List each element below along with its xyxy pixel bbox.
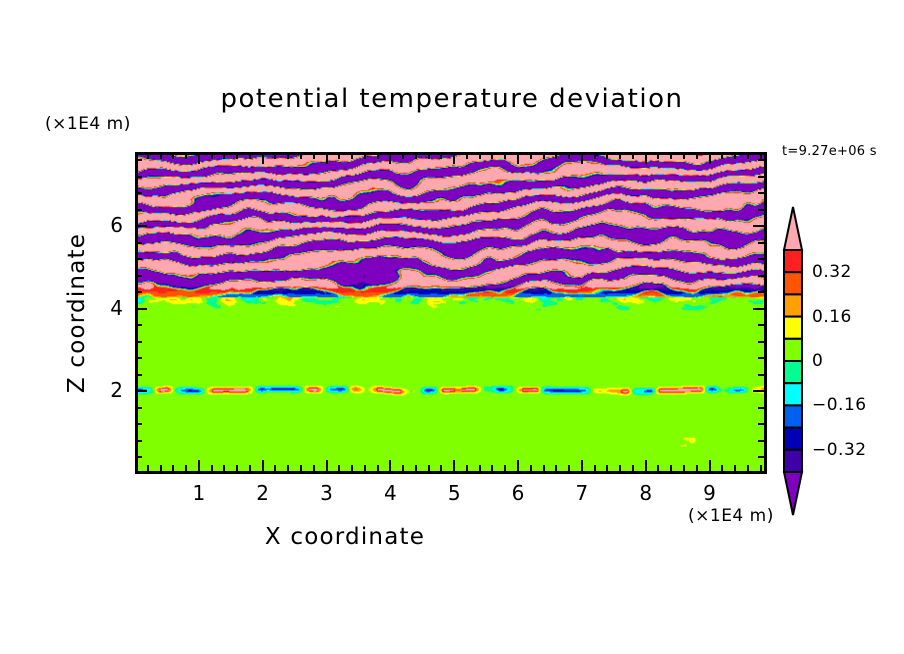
x-tick-major-top xyxy=(453,153,455,164)
x-tick-minor xyxy=(236,465,238,471)
y-tick-minor xyxy=(136,440,142,442)
x-tick-major-top xyxy=(326,153,328,164)
x-tick-minor xyxy=(364,465,366,471)
colorbar-over-cap xyxy=(784,207,802,250)
y-tick-minor-right xyxy=(758,440,764,442)
x-tick-label: 9 xyxy=(690,481,730,505)
x-tick-minor-top xyxy=(185,153,187,159)
x-tick-minor-top xyxy=(479,153,481,159)
x-tick-label: 1 xyxy=(179,481,219,505)
colorbar-tick-label: −0.16 xyxy=(812,395,867,415)
x-tick-major-top xyxy=(389,153,391,164)
y-tick-minor xyxy=(136,407,142,409)
y-tick-label: 4 xyxy=(83,296,123,320)
x-tick-label: 7 xyxy=(562,481,602,505)
y-tick-label: 2 xyxy=(83,378,123,402)
x-tick-minor-top xyxy=(543,153,545,159)
colorbar xyxy=(782,206,804,516)
x-tick-minor-top xyxy=(721,153,723,159)
y-tick-major xyxy=(136,308,147,310)
x-tick-minor xyxy=(351,465,353,471)
x-tick-minor-top xyxy=(428,153,430,159)
y-tick-minor xyxy=(136,258,142,260)
x-tick-minor xyxy=(568,465,570,471)
x-tick-label: 4 xyxy=(370,481,410,505)
y-tick-major xyxy=(136,225,147,227)
x-tick-major xyxy=(326,460,328,471)
x-tick-minor xyxy=(619,465,621,471)
x-tick-minor xyxy=(479,465,481,471)
y-tick-minor xyxy=(136,456,142,458)
x-tick-major xyxy=(262,460,264,471)
y-tick-minor xyxy=(136,176,142,178)
x-tick-minor-top xyxy=(619,153,621,159)
colorbar-band xyxy=(784,428,802,450)
x-tick-minor xyxy=(211,465,213,471)
colorbar-band xyxy=(784,317,802,339)
x-tick-major xyxy=(645,460,647,471)
x-tick-minor-top xyxy=(249,153,251,159)
x-tick-minor xyxy=(377,465,379,471)
x-tick-minor-top xyxy=(696,153,698,159)
x-tick-minor xyxy=(632,465,634,471)
colorbar-tick-label: 0.32 xyxy=(812,262,852,282)
x-tick-minor-top xyxy=(351,153,353,159)
y-tick-minor xyxy=(136,374,142,376)
y-tick-minor-right xyxy=(758,209,764,211)
x-tick-label: 2 xyxy=(243,481,283,505)
x-tick-minor xyxy=(721,465,723,471)
y-tick-minor xyxy=(136,357,142,359)
x-tick-minor xyxy=(313,465,315,471)
x-tick-minor-top xyxy=(172,153,174,159)
y-tick-minor xyxy=(136,291,142,293)
colorbar-graphic xyxy=(782,206,804,516)
y-tick-major xyxy=(136,390,147,392)
x-tick-minor-top xyxy=(313,153,315,159)
x-tick-minor-top xyxy=(402,153,404,159)
x-tick-major xyxy=(581,460,583,471)
contour-plot-area xyxy=(135,152,767,474)
x-tick-minor xyxy=(428,465,430,471)
contour-field-canvas xyxy=(138,155,764,471)
x-tick-minor xyxy=(734,465,736,471)
y-tick-minor-right xyxy=(758,357,764,359)
y-tick-major-right xyxy=(753,308,764,310)
x-tick-minor xyxy=(696,465,698,471)
x-tick-label: 8 xyxy=(626,481,666,505)
x-tick-minor-top xyxy=(147,153,149,159)
x-tick-minor xyxy=(300,465,302,471)
x-tick-major-top xyxy=(709,153,711,164)
x-tick-major-top xyxy=(645,153,647,164)
x-tick-minor xyxy=(530,465,532,471)
x-tick-minor-top xyxy=(606,153,608,159)
colorbar-tick-label: −0.32 xyxy=(812,440,867,460)
x-tick-minor-top xyxy=(632,153,634,159)
y-axis-unit-label: (×1E4 m) xyxy=(45,114,131,134)
x-tick-minor xyxy=(415,465,417,471)
y-tick-minor-right xyxy=(758,407,764,409)
x-tick-minor-top xyxy=(236,153,238,159)
x-axis-title: X coordinate xyxy=(0,524,690,550)
y-tick-minor xyxy=(136,192,142,194)
y-tick-minor-right xyxy=(758,192,764,194)
colorbar-band xyxy=(784,272,802,294)
colorbar-band xyxy=(784,339,802,361)
x-tick-major xyxy=(709,460,711,471)
x-tick-minor xyxy=(491,465,493,471)
y-tick-minor-right xyxy=(758,275,764,277)
x-tick-major xyxy=(198,460,200,471)
x-tick-minor-top xyxy=(747,153,749,159)
x-axis-unit-label: (×1E4 m) xyxy=(688,506,774,526)
x-tick-minor-top xyxy=(223,153,225,159)
x-tick-minor xyxy=(466,465,468,471)
x-tick-minor-top xyxy=(555,153,557,159)
x-tick-minor-top xyxy=(594,153,596,159)
x-tick-minor xyxy=(747,465,749,471)
colorbar-band xyxy=(784,405,802,427)
x-tick-minor-top xyxy=(211,153,213,159)
x-tick-minor xyxy=(440,465,442,471)
colorbar-band xyxy=(784,383,802,405)
x-tick-minor xyxy=(160,465,162,471)
colorbar-under-cap xyxy=(784,472,802,515)
x-tick-major xyxy=(389,460,391,471)
x-tick-minor xyxy=(594,465,596,471)
x-tick-minor-top xyxy=(657,153,659,159)
x-tick-minor-top xyxy=(440,153,442,159)
x-tick-minor-top xyxy=(466,153,468,159)
y-tick-minor xyxy=(136,341,142,343)
y-tick-minor xyxy=(136,209,142,211)
x-tick-major-top xyxy=(581,153,583,164)
y-tick-minor-right xyxy=(758,176,764,178)
x-tick-major-top xyxy=(517,153,519,164)
x-tick-major xyxy=(453,460,455,471)
y-tick-minor-right xyxy=(758,341,764,343)
x-tick-minor-top xyxy=(364,153,366,159)
y-tick-minor-right xyxy=(758,374,764,376)
x-tick-minor xyxy=(504,465,506,471)
x-tick-minor-top xyxy=(287,153,289,159)
x-tick-minor xyxy=(338,465,340,471)
colorbar-tick-label: 0 xyxy=(812,351,823,371)
x-tick-label: 5 xyxy=(434,481,474,505)
x-tick-minor-top xyxy=(491,153,493,159)
y-tick-minor xyxy=(136,423,142,425)
y-tick-minor-right xyxy=(758,456,764,458)
x-tick-minor xyxy=(606,465,608,471)
x-tick-minor-top xyxy=(377,153,379,159)
y-tick-minor-right xyxy=(758,324,764,326)
colorbar-band xyxy=(784,250,802,272)
colorbar-tick-label: 0.16 xyxy=(812,307,852,327)
x-tick-minor-top xyxy=(530,153,532,159)
y-tick-minor xyxy=(136,275,142,277)
x-tick-minor xyxy=(402,465,404,471)
y-tick-minor xyxy=(136,159,142,161)
y-tick-minor xyxy=(136,242,142,244)
x-tick-minor-top xyxy=(683,153,685,159)
x-tick-minor xyxy=(287,465,289,471)
y-tick-minor-right xyxy=(758,423,764,425)
x-tick-label: 3 xyxy=(307,481,347,505)
x-tick-major-top xyxy=(198,153,200,164)
y-tick-major-right xyxy=(753,225,764,227)
x-tick-minor xyxy=(760,465,762,471)
x-tick-minor xyxy=(185,465,187,471)
x-tick-minor xyxy=(274,465,276,471)
y-tick-major-right xyxy=(753,390,764,392)
y-tick-minor-right xyxy=(758,258,764,260)
x-tick-minor xyxy=(543,465,545,471)
y-tick-label: 6 xyxy=(83,213,123,237)
y-tick-minor xyxy=(136,324,142,326)
x-tick-major xyxy=(517,460,519,471)
y-tick-minor-right xyxy=(758,291,764,293)
x-tick-minor-top xyxy=(760,153,762,159)
time-annotation: t=9.27e+06 s xyxy=(782,144,877,159)
x-tick-minor xyxy=(249,465,251,471)
x-tick-minor-top xyxy=(734,153,736,159)
y-tick-minor-right xyxy=(758,242,764,244)
x-tick-minor-top xyxy=(568,153,570,159)
colorbar-band xyxy=(784,361,802,383)
x-tick-label: 6 xyxy=(498,481,538,505)
x-tick-minor xyxy=(223,465,225,471)
x-tick-minor-top xyxy=(415,153,417,159)
figure-root: potential temperature deviation (×1E4 m)… xyxy=(0,0,904,654)
x-tick-minor-top xyxy=(670,153,672,159)
chart-title: potential temperature deviation xyxy=(0,84,904,114)
x-tick-minor xyxy=(172,465,174,471)
x-tick-minor-top xyxy=(504,153,506,159)
x-tick-major-top xyxy=(262,153,264,164)
colorbar-band xyxy=(784,450,802,472)
x-tick-minor xyxy=(683,465,685,471)
x-tick-minor-top xyxy=(160,153,162,159)
x-tick-minor xyxy=(670,465,672,471)
x-tick-minor-top xyxy=(300,153,302,159)
y-tick-minor-right xyxy=(758,159,764,161)
x-tick-minor xyxy=(657,465,659,471)
colorbar-band xyxy=(784,294,802,316)
x-tick-minor-top xyxy=(338,153,340,159)
x-tick-minor xyxy=(147,465,149,471)
x-tick-minor-top xyxy=(274,153,276,159)
x-tick-minor xyxy=(555,465,557,471)
